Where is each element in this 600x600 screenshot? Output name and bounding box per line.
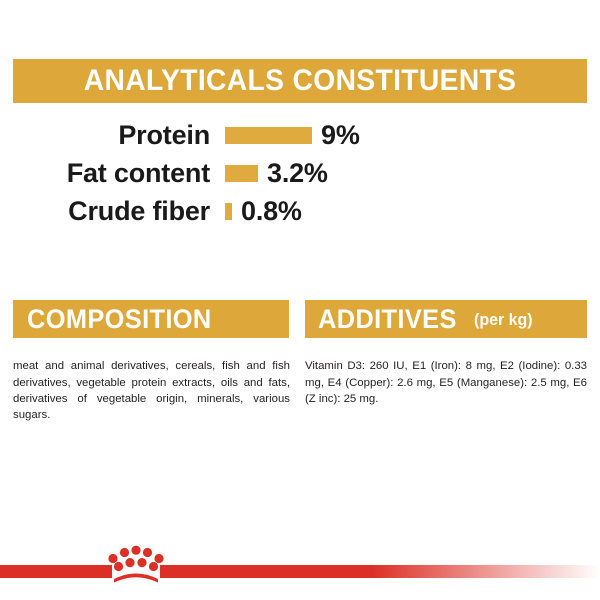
nutrient-value: 3.2% — [267, 160, 328, 187]
nutrient-row: Crude fiber 0.8% — [0, 192, 600, 230]
nutrient-bar — [225, 165, 258, 182]
analyticals-heading-banner: ANALYTICALS CONSTITUENTS — [13, 59, 587, 103]
nutrient-bar-wrap: 0.8% — [225, 198, 302, 225]
additives-heading-subtitle: (per kg) — [474, 311, 533, 328]
analyticals-chart: Protein 9% Fat content 3.2% Crude fiber … — [0, 116, 600, 230]
nutrient-bar-wrap: 3.2% — [225, 160, 328, 187]
additives-heading-text: ADDITIVES — [318, 306, 457, 333]
nutrient-value: 0.8% — [241, 198, 302, 225]
nutrient-label: Protein — [0, 122, 210, 149]
nutrient-label: Crude fiber — [0, 198, 210, 225]
footer-rule-right — [160, 565, 600, 578]
analyticals-heading-text: ANALYTICALS CONSTITUENTS — [84, 66, 517, 96]
crown-icon — [103, 543, 169, 585]
nutrient-bar — [225, 127, 312, 144]
composition-body-text: meat and animal derivatives, cereals, fi… — [13, 358, 290, 423]
additives-body-text: Vitamin D3: 260 IU, E1 (Iron): 8 mg, E2 … — [305, 358, 587, 407]
footer-rule-left — [0, 565, 112, 578]
nutrient-label: Fat content — [0, 160, 210, 187]
nutrition-label-page: ANALYTICALS CONSTITUENTS Protein 9% Fat … — [0, 0, 600, 600]
nutrient-row: Fat content 3.2% — [0, 154, 600, 192]
nutrient-bar-wrap: 9% — [225, 122, 360, 149]
additives-heading-banner: ADDITIVES (per kg) — [305, 300, 587, 338]
nutrient-value: 9% — [321, 122, 360, 149]
nutrient-row: Protein 9% — [0, 116, 600, 154]
composition-heading-banner: COMPOSITION — [13, 300, 289, 338]
composition-heading-text: COMPOSITION — [27, 306, 212, 333]
nutrient-bar — [225, 203, 232, 220]
